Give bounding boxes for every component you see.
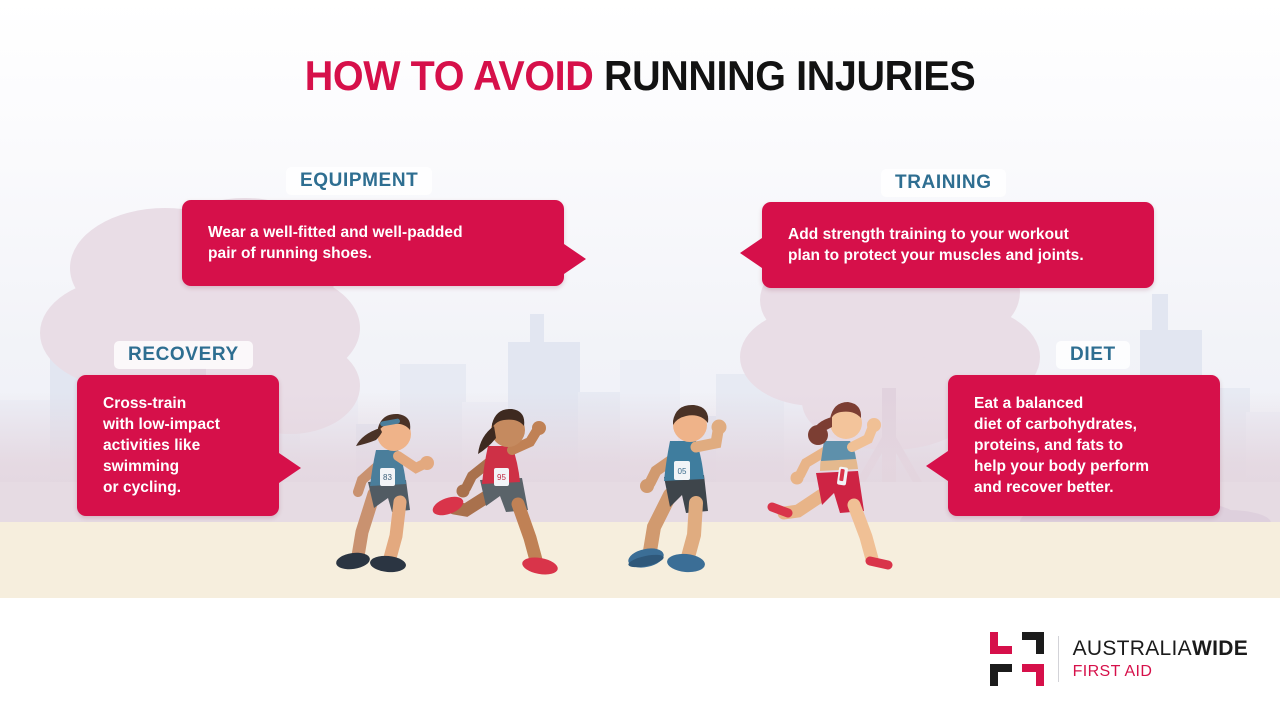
svg-text:83: 83 xyxy=(383,473,392,482)
callout-line: pair of running shoes. xyxy=(208,243,538,264)
svg-text:05: 05 xyxy=(678,467,687,476)
runner-2-illustration: 95 xyxy=(432,392,567,582)
callout-line: Cross-train xyxy=(103,393,253,414)
callout-line: proteins, and fats to xyxy=(974,435,1194,456)
footer-bar: AUSTRALIAWIDE FIRST AID xyxy=(0,598,1280,720)
runner-figure-3: 05 xyxy=(624,395,744,580)
callout-box-training: Add strength training to your workout pl… xyxy=(762,202,1154,288)
callout-tail-recovery xyxy=(279,453,301,483)
callout-box-equipment: Wear a well-fitted and well-padded pair … xyxy=(182,200,564,286)
callout-line: swimming xyxy=(103,456,253,477)
callout-line: or cycling. xyxy=(103,477,253,498)
brand-logo: AUSTRALIAWIDE FIRST AID xyxy=(990,632,1248,686)
callout-line: and recover better. xyxy=(974,477,1194,498)
callout-text-training: Add strength training to your workout pl… xyxy=(762,202,1154,288)
callout-label-diet: DIET xyxy=(1056,341,1130,369)
callout-text-recovery: Cross-train with low-impact activities l… xyxy=(77,375,279,516)
callout-line: help your body perform xyxy=(974,456,1194,477)
brand-name-australia: AUSTRALIA xyxy=(1073,637,1192,660)
brand-name-wide: WIDE xyxy=(1192,637,1248,660)
infographic-canvas: 83 95 xyxy=(0,0,1280,720)
callout-line: diet of carbohydrates, xyxy=(974,414,1194,435)
callout-line: Wear a well-fitted and well-padded xyxy=(208,222,538,243)
page-title: HOW TO AVOID RUNNING INJURIES xyxy=(38,52,1241,100)
callout-tail-diet xyxy=(926,451,948,481)
page-title-rest: RUNNING INJURIES xyxy=(593,52,975,99)
brand-wordmark: AUSTRALIAWIDE FIRST AID xyxy=(1073,638,1248,680)
callout-line: plan to protect your muscles and joints. xyxy=(788,245,1128,266)
callout-label-equipment: EQUIPMENT xyxy=(286,167,432,195)
callout-line: Eat a balanced xyxy=(974,393,1194,414)
callout-tail-training xyxy=(740,238,762,268)
australia-wide-first-aid-cross-logo xyxy=(990,632,1044,686)
callout-text-diet: Eat a balanced diet of carbohydrates, pr… xyxy=(948,375,1220,516)
runner-1-illustration: 83 xyxy=(328,398,448,578)
svg-text:95: 95 xyxy=(497,473,506,482)
page-title-highlight: HOW TO AVOID xyxy=(305,52,594,99)
brand-name-line: AUSTRALIAWIDE xyxy=(1073,638,1248,659)
callout-line: with low-impact xyxy=(103,414,253,435)
callout-tail-equipment xyxy=(564,244,586,274)
runner-figure-1: 83 xyxy=(328,398,448,578)
runner-figure-4 xyxy=(766,387,901,582)
brand-tagline: FIRST AID xyxy=(1073,664,1248,680)
callout-label-training: TRAINING xyxy=(881,169,1006,197)
logo-divider xyxy=(1058,636,1059,682)
callout-line: activities like xyxy=(103,435,253,456)
runner-4-illustration xyxy=(766,387,901,582)
runner-figure-2: 95 xyxy=(432,392,567,582)
callout-line: Add strength training to your workout xyxy=(788,224,1128,245)
callout-label-recovery: RECOVERY xyxy=(114,341,253,369)
callout-box-recovery: Cross-train with low-impact activities l… xyxy=(77,375,279,516)
runner-3-illustration: 05 xyxy=(624,395,744,580)
callout-box-diet: Eat a balanced diet of carbohydrates, pr… xyxy=(948,375,1220,516)
callout-text-equipment: Wear a well-fitted and well-padded pair … xyxy=(182,200,564,286)
